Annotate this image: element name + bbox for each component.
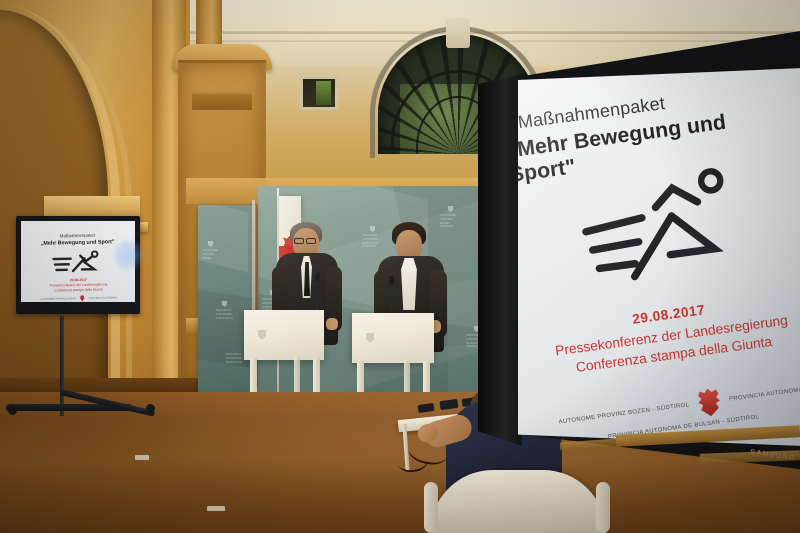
side-slide-footer-right: PROVINCIA AUTONOMA xyxy=(89,297,118,300)
screen-display-area: Maßnahmenpaket „Mehr Bewegung und Sport" xyxy=(518,68,800,446)
press-conference-photo: PROVINCIA AUTONOMA DI BOLZANO ALTO ADIGE… xyxy=(0,0,800,533)
banner-text: AUTONOME PROVINZ BOZEN xyxy=(202,249,218,260)
chair-arm-left xyxy=(424,482,438,533)
microphone-head-right xyxy=(388,276,394,286)
banner-text: PROVINCIA AUTONOMA DI BOLZANO xyxy=(216,309,233,320)
window-foliage xyxy=(316,81,331,105)
side-slide-title1: Maßnahmenpaket xyxy=(21,232,134,239)
side-slide-eagle-icon xyxy=(80,295,85,302)
speaker-left-glasses-icon xyxy=(294,238,304,244)
door-upper-panel xyxy=(192,92,252,110)
lectern-left xyxy=(244,310,324,360)
stand-caster xyxy=(146,404,155,413)
tyrolean-eagle-icon xyxy=(696,387,723,417)
small-side-window xyxy=(300,76,338,110)
side-slide-running-figure-icon xyxy=(51,250,107,273)
monitor-stand-pole xyxy=(60,316,64,416)
speaker-left-glasses-icon xyxy=(306,238,316,244)
chair-arm-right xyxy=(596,482,610,533)
stand-caster xyxy=(8,406,17,415)
rollup-banner: AUTONOME PROVINZ BOZEN PROVINCIA AUTONOM… xyxy=(198,205,256,395)
slide-footer-right: PROVINCIA AUTONOMA xyxy=(729,387,800,403)
presentation-slide: Maßnahmenpaket „Mehr Bewegung und Sport" xyxy=(518,68,800,446)
running-figure-icon xyxy=(576,164,758,289)
side-monitor: Maßnahmenpaket „Mehr Bewegung und Sport" xyxy=(16,216,140,314)
backdrop-text: PROVINZIA AUTONOMA DE BULSAN SÜDTIROL xyxy=(362,234,378,249)
backdrop-text: AUTONOME PROVINZ BOZEN SÜDTIROL xyxy=(440,214,456,229)
screen-side-edge xyxy=(478,74,522,446)
side-slide-footer-left: AUTONOME PROVINZ BOZEN xyxy=(40,298,76,301)
side-slide-footer: AUTONOME PROVINZ BOZEN PROVINCIA AUTONOM… xyxy=(22,294,135,302)
lectern-right xyxy=(352,313,434,363)
floor-debris xyxy=(207,506,225,511)
floor-debris xyxy=(135,455,149,460)
monitor-lens-flare xyxy=(112,238,146,272)
speaker-left-hand xyxy=(326,318,338,330)
banner-text: PROVINZIA AUTONOMA DE BULSAN xyxy=(226,353,242,364)
main-display-screen: Maßnahmenpaket „Mehr Bewegung und Sport" xyxy=(466,30,800,475)
banner-facet xyxy=(198,205,248,272)
slide-footer-left: AUTONOME PROVINZ BOZEN - SÜDTIROL xyxy=(558,402,689,426)
